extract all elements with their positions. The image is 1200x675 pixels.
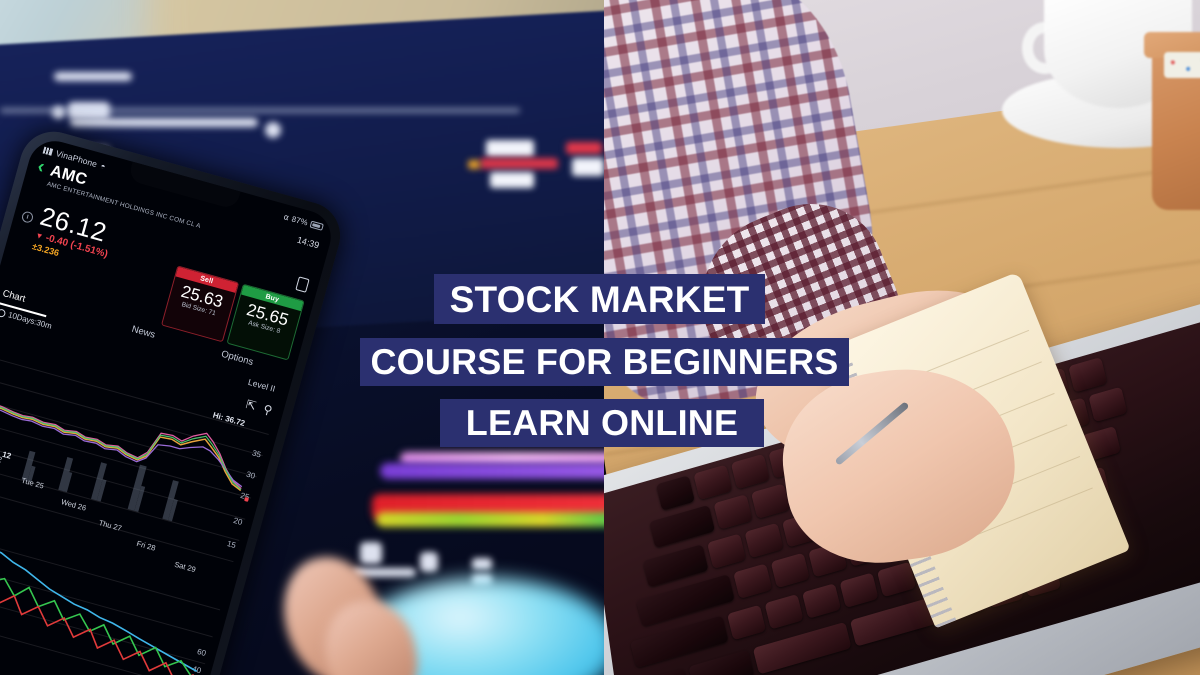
sprinkles [1164,52,1200,78]
ticker-block [490,172,534,188]
chart-tool-icons[interactable]: ⇱ ⚲ [244,397,274,418]
monitor-blob [360,542,382,564]
ticker-block [468,160,480,169]
down-arrow-icon: ▼ [34,231,44,242]
monitor-text-bar [70,118,258,127]
series-upper-band [0,376,253,489]
wifi-icon: ◓ [100,161,107,171]
back-chevron-icon[interactable]: ‹ [36,159,46,176]
headline-line-2: COURSE FOR BEGINNERS [360,338,849,386]
series-price [0,381,251,490]
headline-line-3: LEARN ONLINE [440,399,764,447]
monitor-blob [420,552,438,572]
tab-level-ii[interactable]: Level II [247,377,276,394]
headphone-icon: ⍺ [283,212,291,222]
alert-bell-icon[interactable]: ⚲ [262,402,274,418]
ticker-block [572,158,604,176]
monitor-divider [0,108,520,113]
series-signal-green [0,379,252,490]
clock-icon [21,210,35,224]
phone-action-icons [295,276,309,292]
promo-banner-image: VinaPhone ◓ ⍺ 87% ‹ AMC AMC ENTE [0,0,1200,675]
timeframe-label: 10Days:30m [7,310,53,331]
clock-icon [0,308,6,318]
document-icon[interactable] [295,276,309,292]
ticker-block [480,158,558,169]
signal-bars-icon [43,146,54,155]
ticker-block [486,140,534,157]
monitor-bullet [265,122,281,138]
monitor-blob [472,558,492,570]
headline-line-1: STOCK MARKET [434,274,765,324]
battery-icon [310,220,324,230]
battery-percent-label: 87% [291,214,309,227]
ticker-block [566,142,602,154]
monitor-text-bar [54,72,132,81]
chart-line-yellow-green [376,512,604,527]
chart-line-purple [380,463,604,479]
share-icon[interactable]: ⇱ [244,397,257,413]
market-time-label: 14:39 [296,231,321,251]
